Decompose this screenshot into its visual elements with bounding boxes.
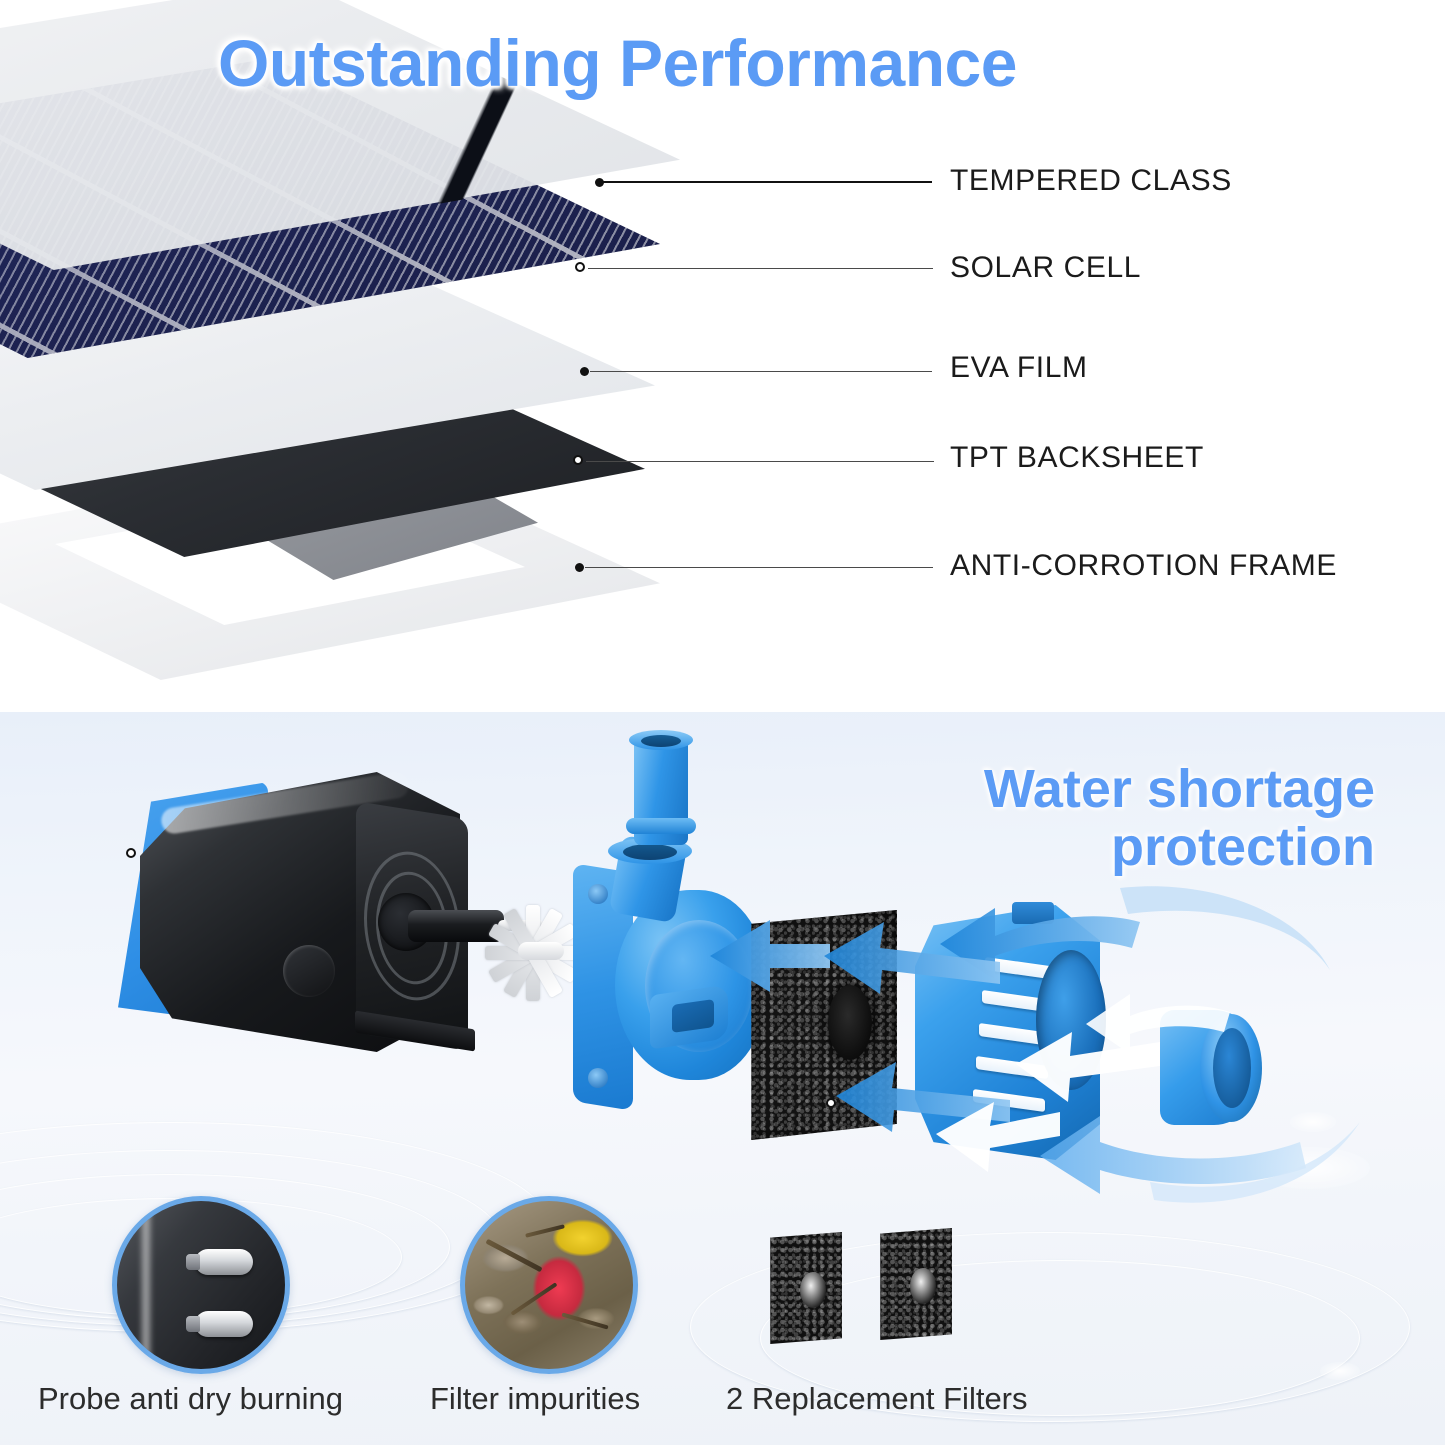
callout-label-eva-film: EVA FILM bbox=[950, 351, 1088, 385]
foam-anchor-dot bbox=[826, 1098, 836, 1108]
filter-cage-notch bbox=[1012, 902, 1054, 924]
callout-label-tpt-backsheet: TPT BACKSHEET bbox=[950, 441, 1204, 475]
volute-neck-bore bbox=[623, 844, 677, 860]
impeller-hub bbox=[518, 942, 564, 960]
callout-dot-anti-corrosion-frame bbox=[575, 563, 584, 572]
replacement-filter-hole bbox=[910, 1268, 936, 1304]
probe-pin-tip bbox=[186, 1316, 200, 1332]
callout-leader-eva-film bbox=[590, 371, 932, 372]
replacement-filter-hole bbox=[800, 1272, 826, 1308]
motor-side-recess bbox=[283, 945, 335, 997]
callout-label-solar-cell: SOLAR CELL bbox=[950, 251, 1141, 285]
probe-pin-tip bbox=[186, 1254, 200, 1270]
volute-screw-hole bbox=[588, 1068, 608, 1088]
leaf-twig bbox=[510, 1282, 557, 1316]
impeller bbox=[488, 895, 578, 1010]
leaf-twig bbox=[561, 1312, 608, 1329]
callout-dot-solar-cell bbox=[575, 262, 585, 272]
foam-texture bbox=[742, 910, 897, 1140]
probe-surface-highlight bbox=[139, 1201, 153, 1369]
callout-dot-tpt-backsheet bbox=[573, 455, 583, 465]
section-title-line1: Water shortage bbox=[984, 760, 1375, 818]
feature-caption-impurities: Filter impurities bbox=[430, 1381, 640, 1417]
callout-leader-solar-cell bbox=[588, 268, 933, 269]
foam-filter-block bbox=[742, 910, 897, 1140]
callout-dot-tempered-glass bbox=[595, 178, 604, 187]
callout-dot-eva-film bbox=[580, 367, 589, 376]
callout-leader-anti-corrosion-frame bbox=[585, 567, 933, 568]
hose-nozzle-bore bbox=[641, 735, 681, 747]
section-title-line2: protection bbox=[984, 818, 1375, 876]
callout-leader-tpt-backsheet bbox=[586, 461, 934, 462]
volute-screw-hole bbox=[588, 884, 608, 904]
water-splash bbox=[1320, 1362, 1360, 1380]
water-splash bbox=[1290, 1112, 1336, 1132]
callout-label-anti-corrosion-frame: ANTI-CORROTION FRAME bbox=[950, 549, 1337, 583]
volute-outlet-bore bbox=[672, 999, 714, 1033]
probe-feature-image bbox=[112, 1196, 290, 1374]
leaf-twig bbox=[485, 1239, 542, 1273]
probe-pin bbox=[195, 1311, 253, 1337]
filter-cage-intake bbox=[1036, 950, 1106, 1090]
leaf-twig bbox=[525, 1224, 565, 1238]
water-splash bbox=[1250, 1147, 1370, 1189]
foam-filter-hole bbox=[828, 985, 872, 1060]
impurities-feature-image bbox=[460, 1196, 638, 1374]
motor-anchor-dot bbox=[126, 848, 136, 858]
feature-caption-probe: Probe anti dry burning bbox=[38, 1381, 343, 1417]
probe-pin bbox=[195, 1249, 253, 1275]
filter-end-cap-bore bbox=[1213, 1028, 1251, 1108]
page-title: Outstanding Performance bbox=[218, 25, 1017, 101]
solar-panel-structure-section: TEMPERED CLASS SOLAR CELL EVA FILM TPT B… bbox=[0, 0, 1445, 712]
hose-nozzle-barb bbox=[626, 818, 696, 834]
section-title: Water shortage protection bbox=[984, 760, 1375, 877]
callout-label-tempered-glass: TEMPERED CLASS bbox=[950, 164, 1232, 198]
callout-leader-tempered-glass bbox=[602, 181, 932, 183]
feature-caption-replacement-filters: 2 Replacement Filters bbox=[726, 1381, 1028, 1417]
